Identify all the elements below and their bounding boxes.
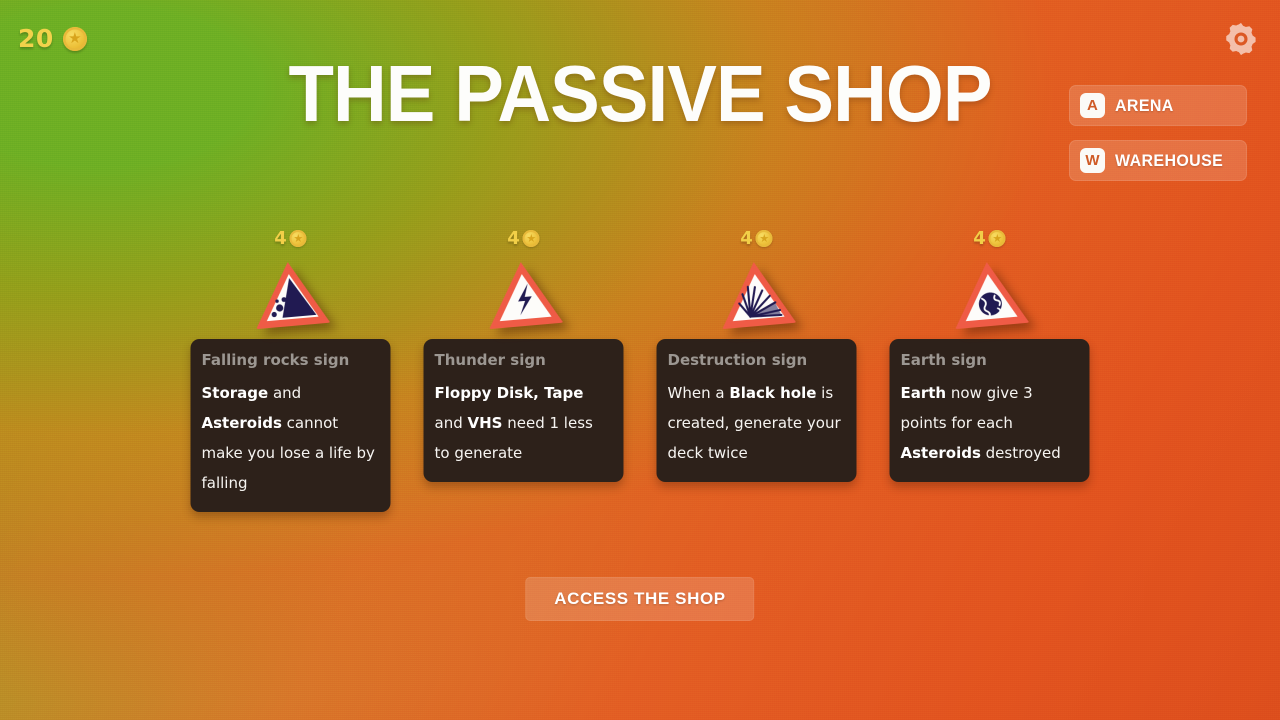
coin-star-icon: ★	[989, 230, 1006, 247]
item-title: Destruction sign	[668, 352, 846, 369]
coin-counter: 20 ★	[18, 24, 87, 53]
warehouse-key-icon: W	[1080, 148, 1105, 173]
shop-item[interactable]: 4 ★ Falling rocks sign Storage and Aster…	[191, 228, 391, 512]
shop-item[interactable]: 4 ★	[657, 228, 857, 482]
item-title: Earth sign	[901, 352, 1079, 369]
shop-item[interactable]: 4 ★ Earth sign Earth now give 3 points f…	[890, 228, 1090, 482]
shop-item[interactable]: 4 ★ Thunder sign Floppy Disk, Tape and V…	[424, 228, 624, 482]
arena-key-icon: A	[1080, 93, 1105, 118]
nav-button-warehouse[interactable]: W WAREHOUSE	[1069, 140, 1247, 181]
item-price: 4 ★	[973, 228, 1006, 249]
item-price-value: 4	[507, 228, 520, 249]
earth-sign-icon	[949, 257, 1031, 331]
item-price-value: 4	[740, 228, 753, 249]
item-title: Falling rocks sign	[202, 352, 380, 369]
coin-star-icon: ★	[756, 230, 773, 247]
nav-button-warehouse-label: WAREHOUSE	[1115, 151, 1223, 171]
item-price: 4 ★	[507, 228, 540, 249]
coin-star-icon: ★	[63, 27, 87, 51]
coin-star-icon: ★	[523, 230, 540, 247]
thunder-sign-icon	[483, 257, 565, 331]
item-icon-wrap	[486, 255, 562, 333]
item-price: 4 ★	[274, 228, 307, 249]
coin-amount: 20	[18, 24, 54, 53]
gear-icon[interactable]	[1224, 22, 1258, 56]
shop-item-list: 4 ★ Falling rocks sign Storage and Aster…	[191, 228, 1090, 512]
item-description: Floppy Disk, Tape and VHS need 1 less to…	[435, 378, 613, 468]
page-title: THE PASSIVE SHOP	[45, 50, 1235, 138]
destruction-sign-icon	[716, 257, 798, 331]
item-description: Storage and Asteroids cannot make you lo…	[202, 378, 380, 498]
nav-buttons: A ARENA W WAREHOUSE	[1069, 85, 1247, 181]
falling-rocks-sign-icon	[250, 257, 332, 331]
item-info-card: Earth sign Earth now give 3 points for e…	[890, 339, 1090, 482]
item-title: Thunder sign	[435, 352, 613, 369]
item-info-card: Thunder sign Floppy Disk, Tape and VHS n…	[424, 339, 624, 482]
item-description: When a Black hole is created, generate y…	[668, 378, 846, 468]
nav-button-arena[interactable]: A ARENA	[1069, 85, 1247, 126]
coin-star-icon: ★	[290, 230, 307, 247]
nav-button-arena-label: ARENA	[1115, 96, 1174, 116]
item-price-value: 4	[973, 228, 986, 249]
item-info-card: Destruction sign When a Black hole is cr…	[657, 339, 857, 482]
item-info-card: Falling rocks sign Storage and Asteroids…	[191, 339, 391, 512]
item-description: Earth now give 3 points for each Asteroi…	[901, 378, 1079, 468]
item-icon-wrap	[719, 255, 795, 333]
access-the-shop-button[interactable]: ACCESS THE SHOP	[525, 577, 754, 621]
item-price: 4 ★	[740, 228, 773, 249]
item-icon-wrap	[253, 255, 329, 333]
item-icon-wrap	[952, 255, 1028, 333]
item-price-value: 4	[274, 228, 287, 249]
